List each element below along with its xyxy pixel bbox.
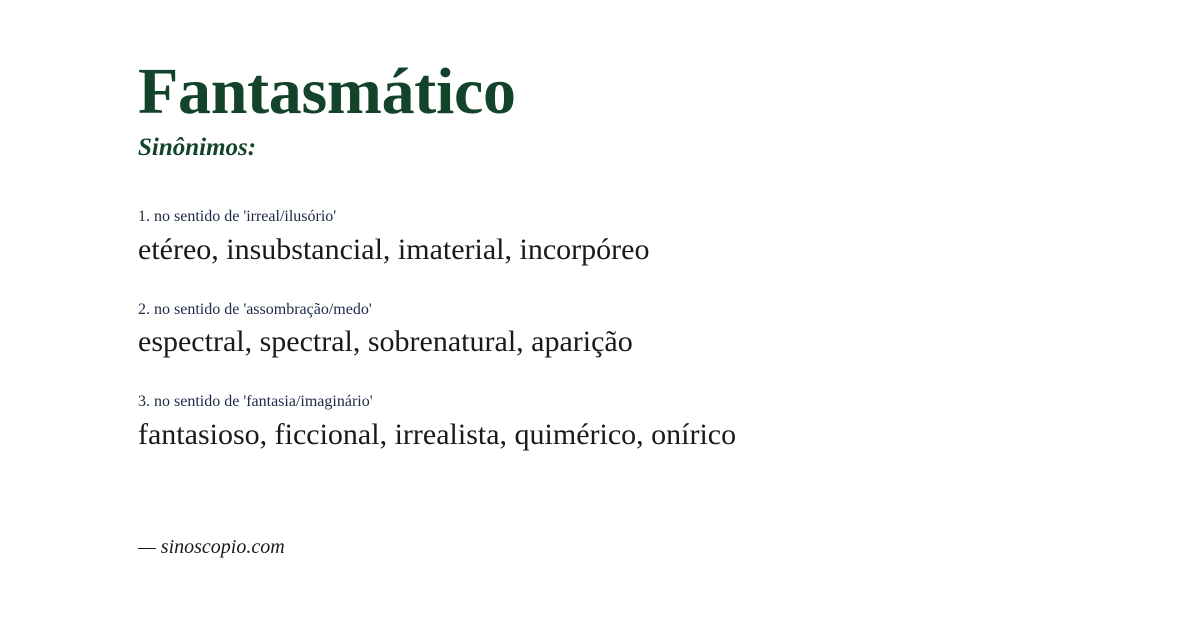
sense-list: 1. no sentido de 'irreal/ilusório' etére… bbox=[138, 206, 1160, 454]
source-attribution: — sinoscopio.com bbox=[138, 534, 285, 560]
sense-group: 2. no sentido de 'assombração/medo' espe… bbox=[138, 299, 1160, 362]
sense-label: 1. no sentido de 'irreal/ilusório' bbox=[138, 206, 1160, 228]
sense-label: 2. no sentido de 'assombração/medo' bbox=[138, 299, 1160, 321]
sense-group: 1. no sentido de 'irreal/ilusório' etére… bbox=[138, 206, 1160, 269]
sense-label: 3. no sentido de 'fantasia/imaginário' bbox=[138, 391, 1160, 413]
sense-group: 3. no sentido de 'fantasia/imaginário' f… bbox=[138, 391, 1160, 454]
synonyms-subtitle: Sinônimos: bbox=[138, 133, 256, 163]
sense-terms: espectral, spectral, sobrenatural, apari… bbox=[138, 322, 1160, 361]
sense-terms: fantasioso, ficcional, irrealista, quimé… bbox=[138, 415, 1160, 454]
page-title: Fantasmático bbox=[138, 58, 516, 127]
thesaurus-card: Fantasmático Sinônimos: 1. no sentido de… bbox=[0, 0, 1200, 628]
sense-terms: etéreo, insubstancial, imaterial, incorp… bbox=[138, 230, 1160, 269]
